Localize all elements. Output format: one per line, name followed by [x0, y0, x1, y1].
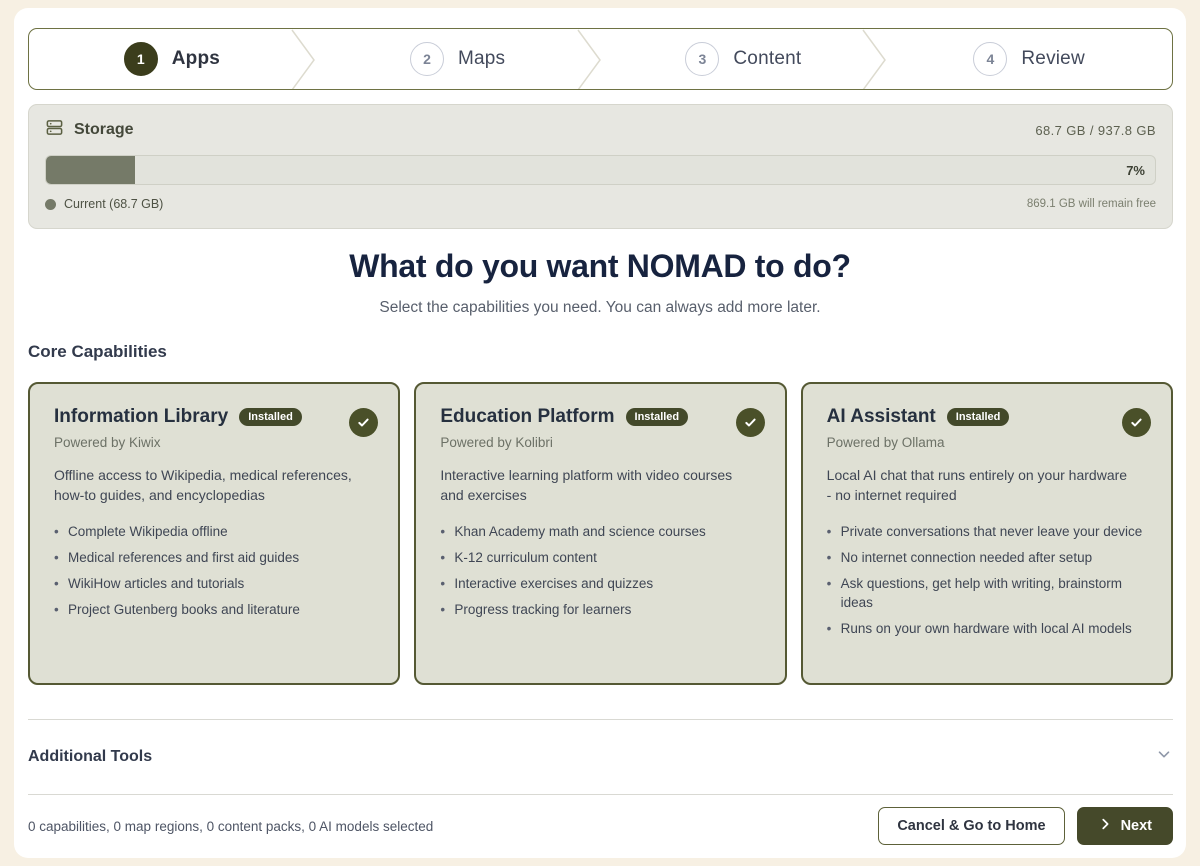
cancel-button[interactable]: Cancel & Go to Home: [878, 807, 1064, 845]
card-powered-by: Powered by Kiwix: [54, 435, 374, 450]
step-label-3: Content: [733, 48, 801, 70]
card-description: Offline access to Wikipedia, medical ref…: [54, 466, 362, 506]
storage-panel: Storage 68.7 GB / 937.8 GB 7% Current (6…: [28, 104, 1173, 229]
next-button-label: Next: [1121, 818, 1152, 834]
list-item: Ask questions, get help with writing, br…: [827, 574, 1147, 612]
storage-remaining-text: 869.1 GB will remain free: [1027, 198, 1156, 210]
step-content[interactable]: 3 Content: [601, 29, 887, 89]
storage-progress-fill: [46, 156, 135, 184]
capability-card-information-library[interactable]: Information Library Installed Powered by…: [28, 382, 400, 685]
list-item: Project Gutenberg books and literature: [54, 600, 374, 619]
storage-title-group: Storage: [45, 118, 134, 142]
list-item: WikiHow articles and tutorials: [54, 574, 374, 593]
card-feature-list: Complete Wikipedia offline Medical refer…: [54, 522, 374, 620]
step-number-2: 2: [410, 42, 444, 76]
footer-actions: Cancel & Go to Home Next: [878, 807, 1173, 845]
list-item: Interactive exercises and quizzes: [440, 574, 760, 593]
storage-footer: Current (68.7 GB) 869.1 GB will remain f…: [45, 197, 1156, 211]
selected-check-icon[interactable]: [1122, 408, 1151, 437]
capability-card-list: Information Library Installed Powered by…: [28, 382, 1173, 685]
storage-total-text: 68.7 GB / 937.8 GB: [1035, 123, 1156, 138]
list-item: Khan Academy math and science courses: [440, 522, 760, 541]
step-review[interactable]: 4 Review: [886, 29, 1172, 89]
card-header: AI Assistant Installed: [827, 406, 1147, 428]
page-title: What do you want NOMAD to do?: [14, 248, 1186, 285]
wizard-stepper: 1 Apps 2 Maps 3 Content 4 Review: [28, 28, 1173, 90]
storage-percent-label: 7%: [1126, 156, 1145, 184]
list-item: Medical references and first aid guides: [54, 548, 374, 567]
step-maps[interactable]: 2 Maps: [315, 29, 601, 89]
hero-section: What do you want NOMAD to do? Select the…: [14, 248, 1186, 317]
page-subtitle: Select the capabilities you need. You ca…: [14, 299, 1186, 317]
card-feature-list: Khan Academy math and science courses K-…: [440, 522, 760, 620]
legend-swatch-current: [45, 199, 56, 210]
capability-card-ai-assistant[interactable]: AI Assistant Installed Powered by Ollama…: [801, 382, 1173, 685]
storage-progress-bar: 7%: [45, 155, 1156, 185]
chevron-right-icon: [1098, 817, 1112, 835]
step-separator-icon-3: [861, 29, 887, 89]
next-button[interactable]: Next: [1077, 807, 1173, 845]
step-label-1: Apps: [172, 48, 220, 70]
capability-card-education-platform[interactable]: Education Platform Installed Powered by …: [414, 382, 786, 685]
server-icon: [45, 118, 64, 142]
card-title: Education Platform: [440, 406, 614, 428]
card-header: Information Library Installed: [54, 406, 374, 428]
additional-tools-label: Additional Tools: [28, 748, 152, 766]
card-description: Interactive learning platform with video…: [440, 466, 748, 506]
step-number-3: 3: [685, 42, 719, 76]
legend-label-current: Current (68.7 GB): [64, 197, 163, 211]
card-header: Education Platform Installed: [440, 406, 760, 428]
core-capabilities-heading: Core Capabilities: [28, 342, 167, 362]
step-separator-icon-1: [290, 29, 316, 89]
list-item: Complete Wikipedia offline: [54, 522, 374, 541]
card-powered-by: Powered by Ollama: [827, 435, 1147, 450]
app-window: 1 Apps 2 Maps 3 Content 4 Review: [14, 8, 1186, 858]
list-item: Private conversations that never leave y…: [827, 522, 1147, 541]
additional-tools-toggle[interactable]: Additional Tools: [28, 719, 1173, 794]
selected-check-icon[interactable]: [736, 408, 765, 437]
step-label-4: Review: [1021, 48, 1085, 70]
storage-legend: Current (68.7 GB): [45, 197, 163, 211]
status-badge: Installed: [947, 408, 1010, 426]
list-item: Progress tracking for learners: [440, 600, 760, 619]
selection-summary: 0 capabilities, 0 map regions, 0 content…: [28, 819, 433, 834]
selected-check-icon[interactable]: [349, 408, 378, 437]
storage-header: Storage 68.7 GB / 937.8 GB: [45, 119, 1156, 141]
list-item: Runs on your own hardware with local AI …: [827, 619, 1147, 638]
status-badge: Installed: [239, 408, 302, 426]
step-apps[interactable]: 1 Apps: [29, 29, 315, 89]
list-item: No internet connection needed after setu…: [827, 548, 1147, 567]
list-item: K-12 curriculum content: [440, 548, 760, 567]
chevron-down-icon[interactable]: [1155, 745, 1173, 768]
card-title: Information Library: [54, 406, 228, 428]
storage-label: Storage: [74, 121, 134, 139]
step-label-2: Maps: [458, 48, 505, 70]
card-feature-list: Private conversations that never leave y…: [827, 522, 1147, 639]
card-title: AI Assistant: [827, 406, 936, 428]
footer-bar: 0 capabilities, 0 map regions, 0 content…: [28, 794, 1173, 858]
step-number-1: 1: [124, 42, 158, 76]
status-badge: Installed: [626, 408, 689, 426]
card-description: Local AI chat that runs entirely on your…: [827, 466, 1135, 506]
step-separator-icon-2: [576, 29, 602, 89]
step-number-4: 4: [973, 42, 1007, 76]
card-powered-by: Powered by Kolibri: [440, 435, 760, 450]
